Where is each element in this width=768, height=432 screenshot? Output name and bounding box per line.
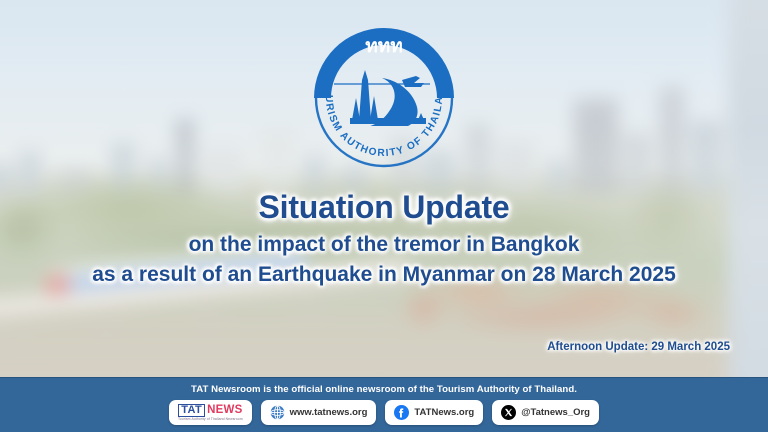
update-timestamp: Afternoon Update: 29 March 2025 xyxy=(547,341,730,353)
x-handle: @Tatnews_Org xyxy=(521,407,590,418)
badge-website[interactable]: www.tatnews.org xyxy=(261,400,377,425)
tatnews-logo-lockup: TAT NEWS Tourism Authority of Thailand N… xyxy=(178,404,243,422)
page-subtitle: on the impact of the tremor in Bangkok a… xyxy=(0,230,768,291)
tatnews-subtitle: Tourism Authority of Thailand Newsroom xyxy=(178,418,243,421)
situation-update-graphic: ททท TOURISM AUTHORITY OF THAILAND xyxy=(0,0,768,432)
headline-block: Situation Update on the impact of the tr… xyxy=(0,190,768,291)
globe-icon xyxy=(270,405,285,420)
badge-tatnews-logo[interactable]: TAT NEWS Tourism Authority of Thailand N… xyxy=(169,400,252,425)
logo-thai-script: ททท xyxy=(365,35,403,57)
tat-logo-svg: ททท TOURISM AUTHORITY OF THAILAND xyxy=(304,18,464,176)
badge-x-twitter[interactable]: @Tatnews_Org xyxy=(492,400,599,425)
footer-badges: TAT NEWS Tourism Authority of Thailand N… xyxy=(0,400,768,425)
badge-facebook[interactable]: TATNews.org xyxy=(385,400,483,425)
page-title: Situation Update xyxy=(0,190,768,226)
tat-logo: ททท TOURISM AUTHORITY OF THAILAND xyxy=(304,18,464,176)
logo-inner-scene xyxy=(334,70,430,126)
tatnews-word: NEWS xyxy=(207,405,242,417)
footer-bar: TAT Newsroom is the official online news… xyxy=(0,377,768,432)
subtitle-line-1: on the impact of the tremor in Bangkok xyxy=(0,230,768,260)
subtitle-line-2: as a result of an Earthquake in Myanmar … xyxy=(0,260,768,290)
website-url: www.tatnews.org xyxy=(290,407,368,418)
tatnews-mark: TAT xyxy=(178,404,205,417)
facebook-handle: TATNews.org xyxy=(414,407,474,418)
facebook-icon xyxy=(394,405,409,420)
x-twitter-icon xyxy=(501,405,516,420)
footer-tagline: TAT Newsroom is the official online news… xyxy=(0,378,768,395)
